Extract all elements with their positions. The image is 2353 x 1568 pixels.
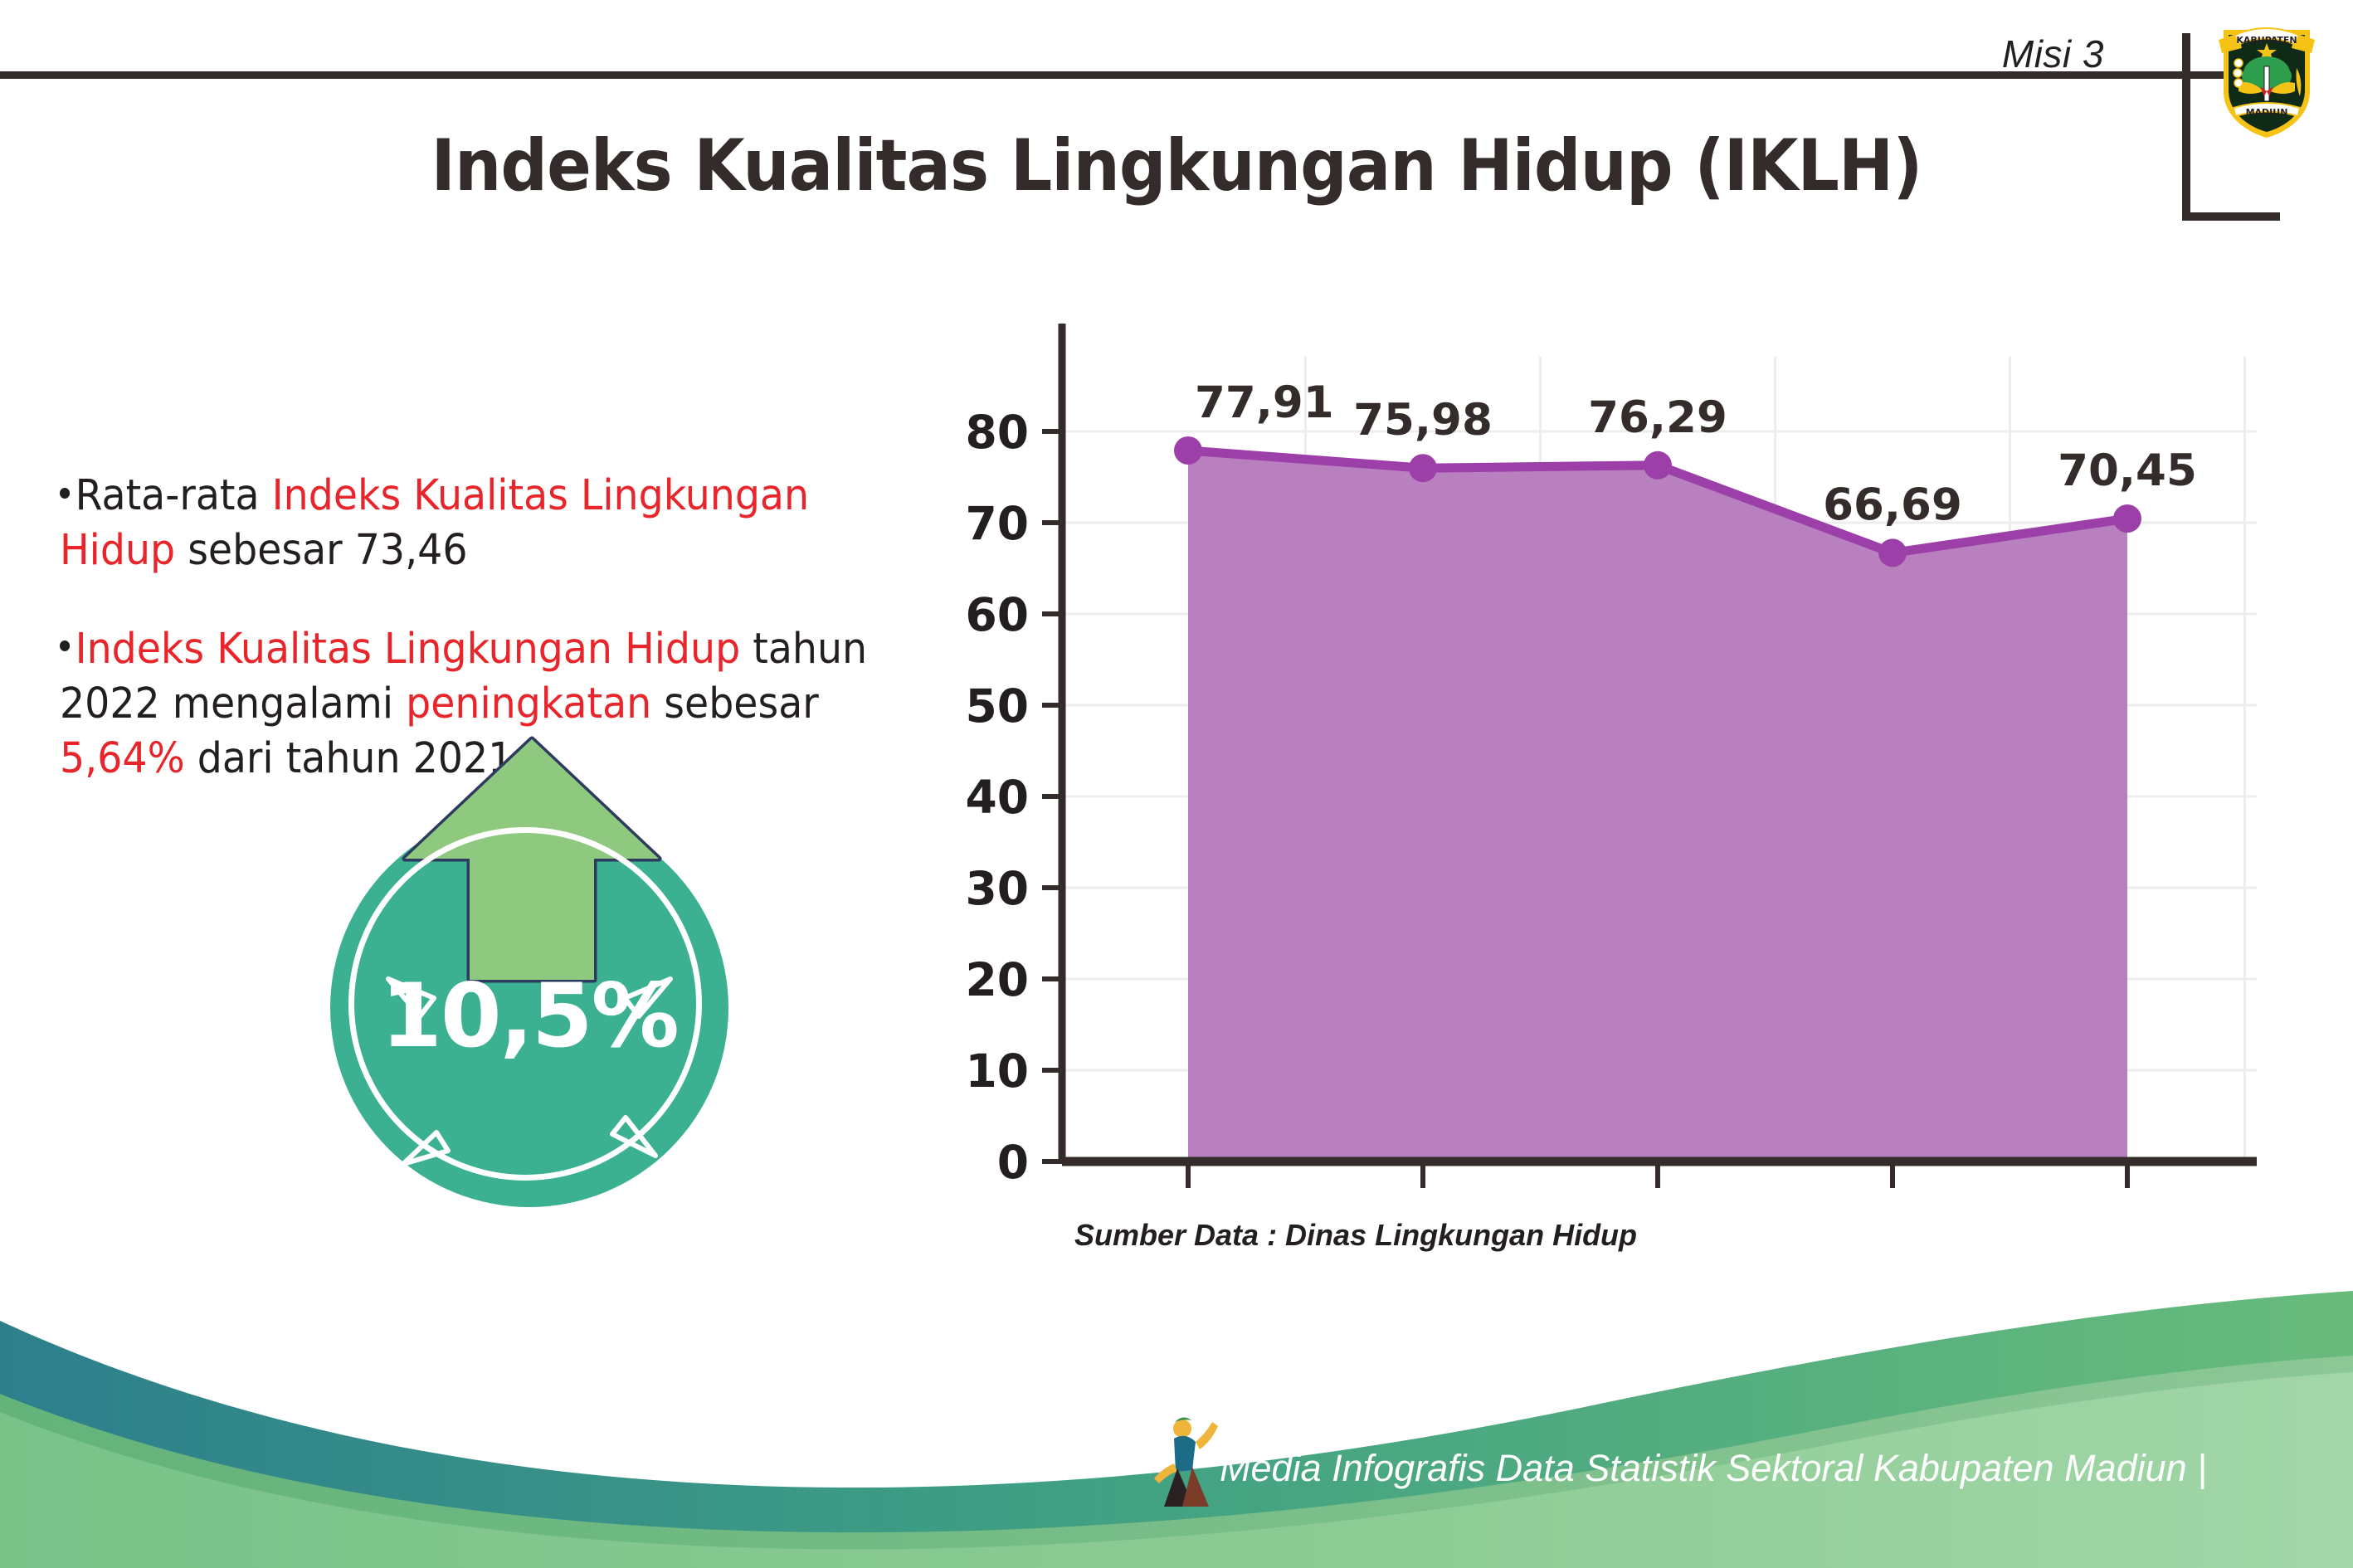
bullet-dot	[60, 640, 70, 651]
data-label: 76,29	[1588, 392, 1727, 443]
y-tick-label: 60	[965, 588, 1029, 641]
x-tick-label: 2021	[1816, 1202, 1969, 1203]
y-tick-label: 80	[965, 406, 1029, 459]
mission-label: Misi 3	[2002, 32, 2104, 76]
crest-bracket-horizontal	[2182, 212, 2280, 221]
y-tick-label: 0	[997, 1136, 1029, 1189]
data-point	[1878, 538, 1907, 567]
bullet-text: Rata-rata Indeks Kualitas Lingkungan Hid…	[60, 471, 809, 575]
x-tick-label: 2022	[2051, 1202, 2204, 1203]
bullet-item: Rata-rata Indeks Kualitas Lingkungan Hid…	[60, 469, 893, 579]
data-point	[1409, 454, 1437, 482]
data-label: 75,98	[1353, 395, 1493, 446]
y-tick-label: 10	[965, 1045, 1029, 1098]
y-tick-label: 40	[965, 771, 1029, 824]
area-fill	[1188, 450, 2127, 1161]
x-tick-label: 2019	[1347, 1202, 1499, 1203]
data-label: 77,91	[1195, 377, 1334, 428]
header-rule	[0, 71, 2265, 79]
data-label: 70,45	[2058, 446, 2197, 496]
page-title: Indeks Kualitas Lingkungan Hidup (IKLH)	[94, 124, 2258, 207]
y-tick-label: 70	[965, 497, 1029, 550]
badge-value: 10,5%	[330, 965, 728, 1067]
kabupaten-madiun-crest-icon: KABUPATEN MADIUN	[2214, 15, 2320, 139]
y-tick-label: 30	[965, 862, 1029, 915]
media-infografis-logo-icon	[1149, 1414, 1229, 1510]
data-label: 66,69	[1823, 480, 1962, 530]
source-note: Sumber Data : Dinas Lingkungan Hidup	[1074, 1218, 1637, 1253]
x-tick-label: 2018	[1112, 1202, 1264, 1203]
y-tick-label: 50	[965, 679, 1029, 733]
data-point	[1174, 436, 1202, 465]
svg-text:MADIUN: MADIUN	[2246, 107, 2288, 118]
iklh-area-chart: 77,9175,9876,2966,6970,45010203040506070…	[946, 274, 2290, 1203]
footer: Media Infografis Data Statistik Sektoral…	[0, 1269, 2353, 1568]
bullet-dot	[60, 488, 70, 499]
increase-badge: 10,5%	[330, 809, 728, 1207]
data-point	[2113, 504, 2141, 533]
data-point	[1644, 451, 1672, 480]
footer-text: Media Infografis Data Statistik Sektoral…	[1220, 1447, 2207, 1490]
y-tick-label: 20	[965, 953, 1029, 1006]
x-tick-label: 2020	[1581, 1202, 1734, 1203]
